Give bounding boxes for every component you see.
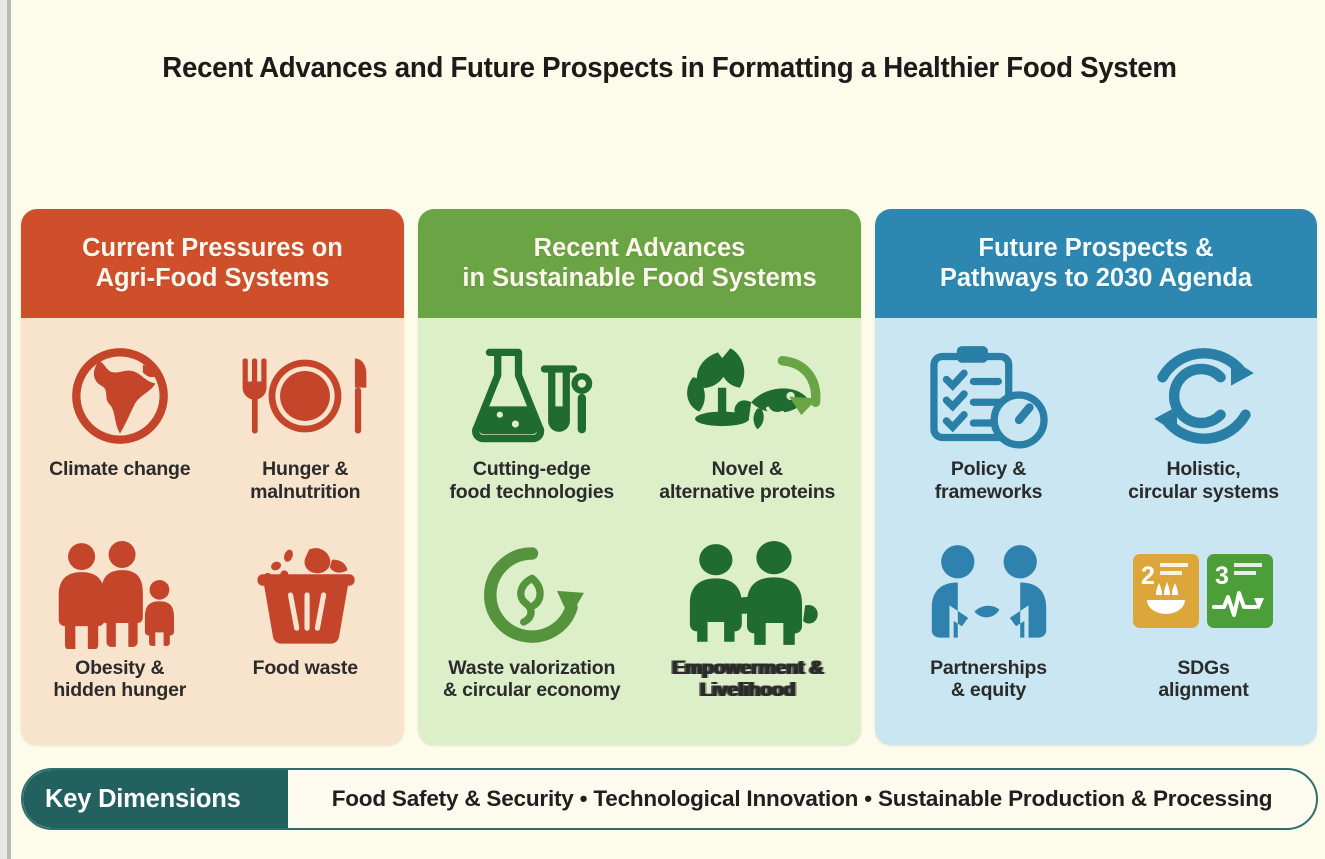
column-current-pressures: Current Pressures on Agri-Food Systems C… [21,209,404,745]
item-label: SDGs alignment [1158,657,1248,702]
key-dimensions-bar: Key Dimensions Food Safety & Security • … [21,768,1318,830]
item-label: Food waste [253,657,358,680]
column-body-future-prospects: Policy & frameworks [875,318,1317,745]
item-label: Holistic, circular systems [1128,458,1279,503]
circular-arrows-icon [1142,340,1266,452]
svg-text:3: 3 [1215,562,1229,590]
item-empowerment-livelihood[interactable]: Empowerment & Livelihood [640,533,856,732]
key-dimensions-badge: Key Dimensions [23,770,288,828]
column-header-current-pressures: Current Pressures on Agri-Food Systems [21,209,404,318]
item-label: Cutting-edge food technologies [449,458,614,503]
item-climate-change[interactable]: Climate change [27,334,213,533]
column-header-recent-advances: Recent Advances in Sustainable Food Syst… [418,209,861,318]
waste-bin-icon [245,539,365,651]
item-cutting-edge-food-technologies[interactable]: Cutting-edge food technologies [424,334,640,533]
infographic-poster: Recent Advances and Future Prospects in … [0,0,1325,859]
item-hunger-malnutrition[interactable]: Hunger & malnutrition [213,334,399,533]
sdg-tile-2: 2 [1133,554,1199,628]
item-partnerships-equity[interactable]: Partnerships & equity [881,533,1096,732]
item-label: Climate change [49,458,190,481]
item-label: Novel & alternative proteins [659,458,835,503]
poster-title: Recent Advances and Future Prospects in … [7,52,1325,85]
item-waste-valorization[interactable]: Waste valorization & circular economy [424,533,640,732]
flask-test-tube-icon [462,340,602,452]
two-people-handhold-icon [672,539,822,651]
sdg-tile-3: 3 [1207,554,1273,628]
poster-title-text: Recent Advances and Future Prospects in … [27,52,1312,85]
item-policy-frameworks[interactable]: Policy & frameworks [881,334,1096,533]
key-dimensions-items: Food Safety & Security • Technological I… [288,770,1316,828]
recycle-arrow-icon [472,539,592,651]
handshake-people-icon [919,539,1059,651]
sdg-tiles-icon: 2 [1129,539,1279,651]
family-figures-icon [50,539,190,651]
item-label: Empowerment & Livelihood [672,657,823,702]
item-holistic-circular-systems[interactable]: Holistic, circular systems [1096,334,1311,533]
item-sdgs-alignment[interactable]: 2 [1096,533,1311,732]
column-recent-advances: Recent Advances in Sustainable Food Syst… [418,209,861,745]
item-label: Waste valorization & circular economy [443,657,620,702]
column-header-text: Current Pressures on Agri-Food Systems [82,234,343,294]
item-obesity-hidden-hunger[interactable]: Obesity & hidden hunger [27,533,213,732]
clipboard-checklist-clock-icon [923,340,1055,452]
column-body-recent-advances: Cutting-edge food technologies [418,318,861,745]
column-future-prospects: Future Prospects & Pathways to 2030 Agen… [875,209,1317,745]
plate-cutlery-icon [230,340,380,452]
globe-icon [68,340,172,452]
plant-fish-icon [672,340,822,452]
column-header-future-prospects: Future Prospects & Pathways to 2030 Agen… [875,209,1317,318]
item-novel-alternative-proteins[interactable]: Novel & alternative proteins [640,334,856,533]
item-label: Policy & frameworks [935,458,1042,503]
item-label: Hunger & malnutrition [250,458,360,503]
item-food-waste[interactable]: Food waste [213,533,399,732]
columns-container: Current Pressures on Agri-Food Systems C… [21,209,1321,745]
key-dimensions-label: Key Dimensions [45,785,241,814]
svg-text:2: 2 [1141,562,1155,590]
column-body-current-pressures: Climate change [21,318,404,745]
item-label: Partnerships & equity [930,657,1047,702]
item-label: Obesity & hidden hunger [53,657,186,702]
key-dimensions-items-text: Food Safety & Security • Technological I… [332,786,1273,812]
column-header-text: Recent Advances in Sustainable Food Syst… [462,234,816,294]
column-header-text: Future Prospects & Pathways to 2030 Agen… [940,234,1252,294]
